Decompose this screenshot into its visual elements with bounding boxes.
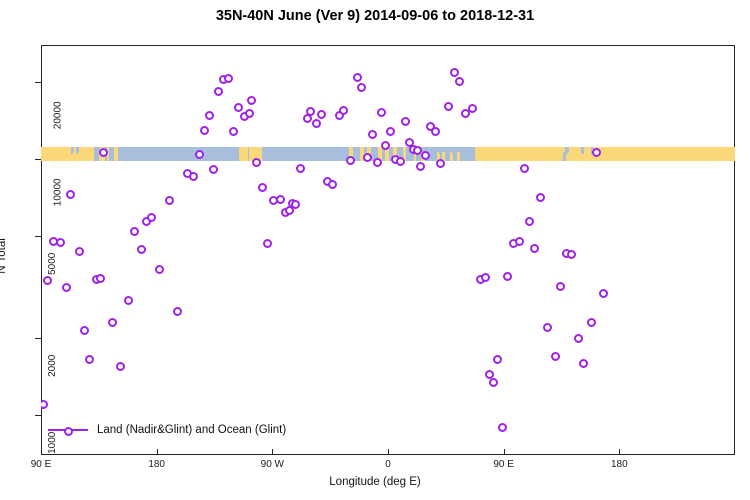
scatter-point (137, 245, 146, 254)
scatter-point (80, 326, 89, 335)
scatter-point (130, 227, 139, 236)
scatter-point (234, 103, 243, 112)
x-tick-label: 90 E (31, 459, 52, 470)
scatter-point (66, 190, 75, 199)
plot-canvas (41, 45, 735, 455)
coastline-pixel (471, 147, 474, 154)
scatter-point (62, 283, 71, 292)
scatter-point (515, 237, 524, 246)
scatter-point (556, 282, 565, 291)
scatter-point (339, 106, 348, 115)
scatter-point (386, 127, 395, 136)
y-tick-mark (35, 82, 41, 83)
y-tick-mark (35, 236, 41, 237)
x-tick-mark (41, 449, 42, 455)
scatter-point (317, 110, 326, 119)
scatter-point (245, 109, 254, 118)
y-tick-label: 20000 (52, 102, 63, 130)
scatter-point (214, 87, 223, 96)
scatter-point (147, 213, 156, 222)
scatter-point (455, 77, 464, 86)
y-tick-label: 5000 (47, 253, 58, 275)
land-segment (475, 147, 735, 161)
scatter-point (498, 423, 507, 432)
x-tick-mark (388, 449, 389, 455)
x-tick-label: 180 (148, 459, 165, 470)
x-axis-label: Longitude (deg E) (0, 476, 750, 488)
scatter-point (363, 153, 372, 162)
chart-root: 35N-40N June (Ver 9) 2014-09-06 to 2018-… (0, 0, 750, 500)
chart-title: 35N-40N June (Ver 9) 2014-09-06 to 2018-… (0, 8, 750, 24)
scatter-point (195, 150, 204, 159)
scatter-point (543, 323, 552, 332)
scatter-point (373, 158, 382, 167)
scatter-point (444, 102, 453, 111)
coastline-pixel (581, 147, 584, 154)
scatter-point (41, 400, 48, 409)
x-tick-mark (504, 449, 505, 455)
scatter-point (189, 172, 198, 181)
scatter-point (396, 157, 405, 166)
scatter-point (173, 307, 182, 316)
y-tick-label: 2000 (47, 355, 58, 377)
scatter-point (489, 378, 498, 387)
scatter-point (346, 156, 355, 165)
y-tick-mark (35, 159, 41, 160)
coastline-pixel (90, 152, 93, 161)
scatter-point (229, 127, 238, 136)
scatter-point (450, 68, 459, 77)
scatter-point (96, 274, 105, 283)
scatter-point (312, 119, 321, 128)
scatter-point (468, 104, 477, 113)
scatter-point (56, 238, 65, 247)
scatter-point (224, 74, 233, 83)
scatter-point (116, 362, 125, 371)
scatter-point (108, 318, 117, 327)
land-segment (239, 147, 248, 161)
y-tick-mark (35, 415, 41, 416)
scatter-point (567, 250, 576, 259)
scatter-point (209, 165, 218, 174)
x-tick-mark (619, 449, 620, 455)
scatter-point (599, 289, 608, 298)
coastline-pixel (78, 152, 81, 161)
legend-marker-sample (48, 429, 88, 431)
legend: Land (Nadir&Glint) and Ocean (Glint) (48, 424, 286, 436)
scatter-point (75, 247, 84, 256)
scatter-point (525, 217, 534, 226)
scatter-point (401, 117, 410, 126)
scatter-point (530, 244, 539, 253)
scatter-point (431, 127, 440, 136)
scatter-point (165, 196, 174, 205)
scatter-point (481, 273, 490, 282)
scatter-point (416, 162, 425, 171)
scatter-point (493, 355, 502, 364)
scatter-point (377, 108, 386, 117)
coastline-pixel (568, 152, 571, 161)
scatter-point (353, 73, 362, 82)
coastline-pixel (463, 147, 466, 154)
scatter-point (252, 158, 261, 167)
y-tick-label: 10000 (52, 179, 63, 207)
land-segment (114, 147, 118, 161)
scatter-point (296, 164, 305, 173)
scatter-point (587, 318, 596, 327)
scatter-point (520, 164, 529, 173)
scatter-point (155, 265, 164, 274)
x-tick-mark (157, 449, 158, 455)
scatter-point (85, 355, 94, 364)
y-axis-label: N Total (0, 238, 8, 274)
scatter-point (574, 334, 583, 343)
y-tick-mark (35, 338, 41, 339)
scatter-point (258, 183, 267, 192)
x-tick-label: 90 E (493, 459, 514, 470)
scatter-point (247, 96, 256, 105)
coastline-pixel (452, 147, 455, 154)
scatter-point (200, 126, 209, 135)
scatter-point (536, 193, 545, 202)
scatter-point (124, 296, 133, 305)
legend-circle-icon (64, 427, 73, 436)
legend-label: Land (Nadir&Glint) and Ocean (Glint) (97, 424, 286, 436)
scatter-point (291, 200, 300, 209)
scatter-point (579, 359, 588, 368)
x-tick-label: 0 (385, 459, 391, 470)
x-tick-label: 180 (611, 459, 628, 470)
scatter-point (357, 83, 366, 92)
scatter-point (503, 272, 512, 281)
scatter-point (328, 180, 337, 189)
x-tick-label: 90 W (261, 459, 284, 470)
scatter-point (368, 130, 377, 139)
scatter-point (306, 107, 315, 116)
scatter-point (276, 195, 285, 204)
scatter-point (43, 276, 52, 285)
x-tick-mark (272, 449, 273, 455)
scatter-point (421, 151, 430, 160)
scatter-point (205, 111, 214, 120)
scatter-point (551, 352, 560, 361)
scatter-point (263, 239, 272, 248)
scatter-point (436, 159, 445, 168)
